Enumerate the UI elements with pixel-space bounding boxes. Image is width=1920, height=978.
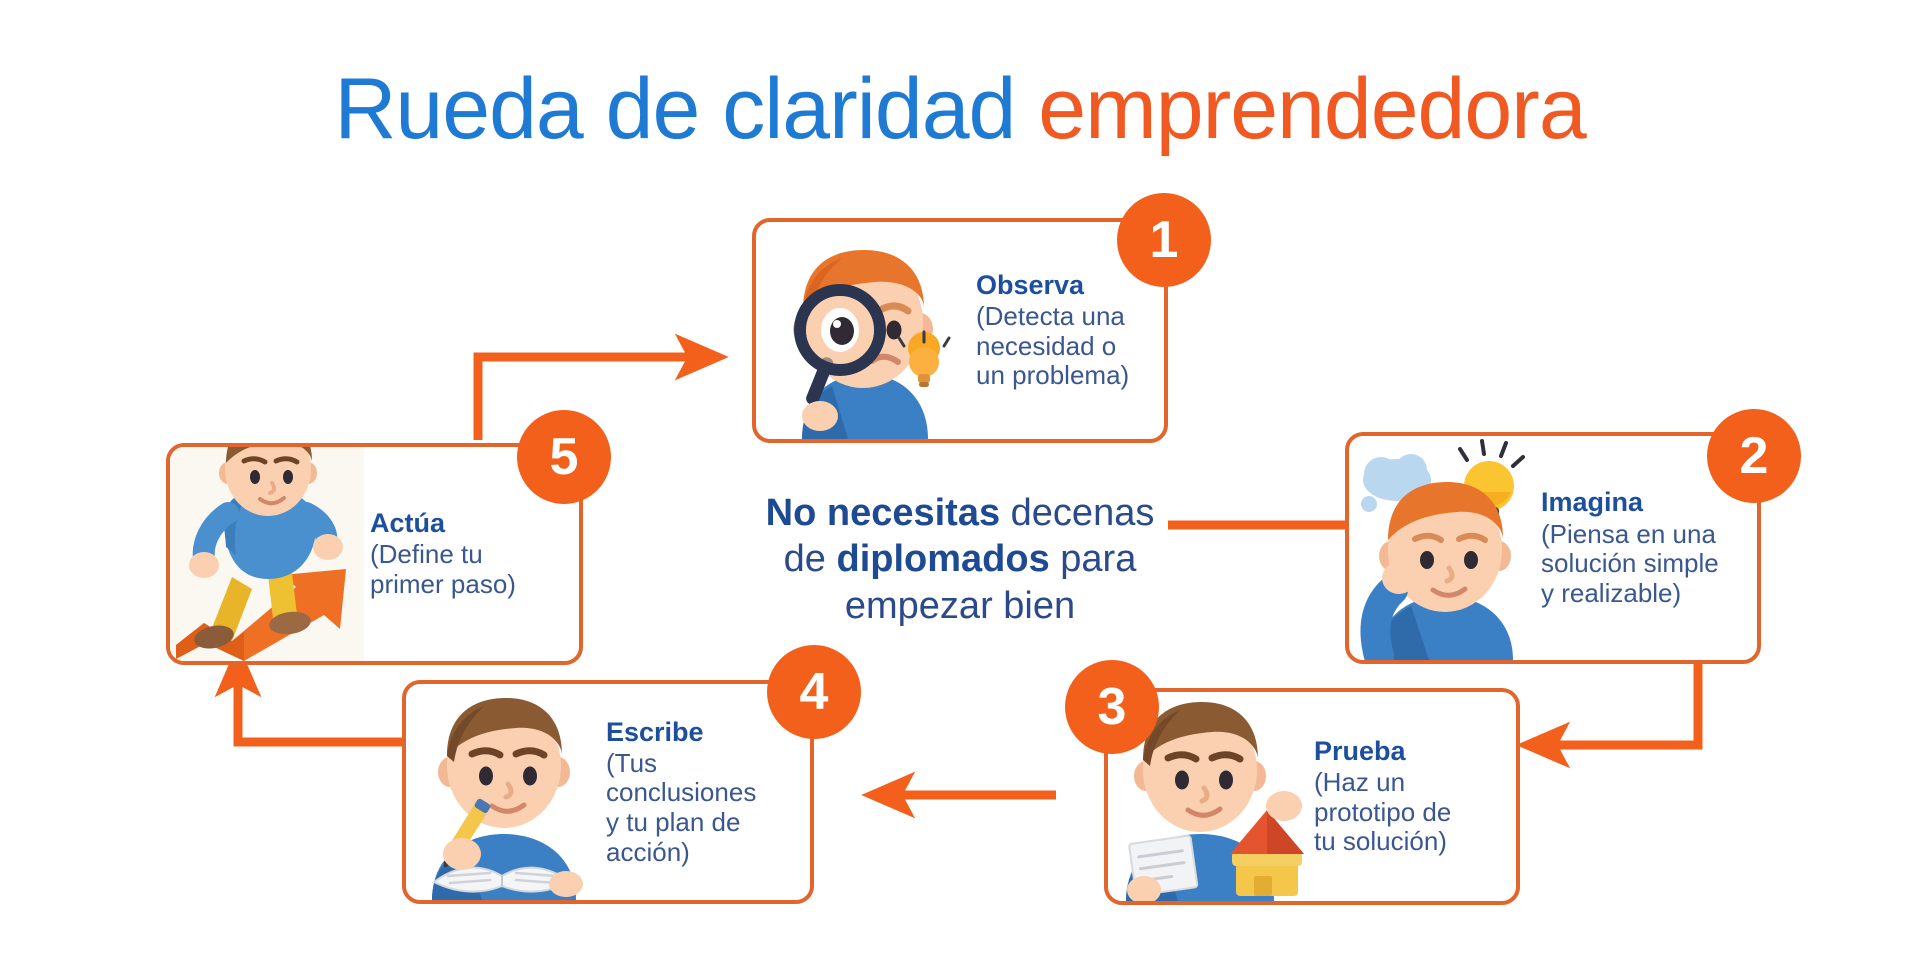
center-message-bold-2: diplomados bbox=[836, 538, 1049, 580]
step-description: (Tus conclusiones y tu plan de acción) bbox=[606, 749, 796, 868]
step-card-actua-text: Actúa (Define tu primer paso) bbox=[364, 508, 579, 599]
person-magnifying-glass-idea-icon bbox=[756, 222, 970, 439]
step-badge-5-number: 5 bbox=[550, 431, 579, 483]
infographic-canvas: Rueda de claridad emprendedora bbox=[0, 0, 1920, 978]
step-description: (Piensa en una solución simple y realiza… bbox=[1541, 520, 1743, 609]
step-badge-2-number: 2 bbox=[1740, 430, 1769, 482]
step-badge-5: 5 bbox=[517, 410, 611, 504]
step-badge-1: 1 bbox=[1117, 193, 1211, 287]
center-message-rest-1: decenas bbox=[1000, 492, 1154, 534]
step-title: Escribe bbox=[606, 717, 796, 747]
step-description: (Define tu primer paso) bbox=[370, 540, 565, 599]
step-badge-4-number: 4 bbox=[800, 666, 829, 718]
person-walking-up-arrow-icon bbox=[170, 447, 364, 661]
center-message: No necesitas decenas de diplomados para … bbox=[700, 490, 1220, 629]
step-badge-1-number: 1 bbox=[1150, 214, 1179, 266]
step-title: Imagina bbox=[1541, 487, 1743, 517]
person-writing-notebook-icon bbox=[406, 684, 600, 900]
step-card-imagina-text: Imagina (Piensa en una solución simple y… bbox=[1535, 487, 1757, 608]
step-card-prueba[interactable]: Prueba (Haz un prototipo de tu solución) bbox=[1104, 688, 1520, 905]
step-badge-3: 3 bbox=[1065, 660, 1159, 754]
step-card-observa[interactable]: Observa (Detecta una necesidad o un prob… bbox=[752, 218, 1168, 443]
step-badge-2: 2 bbox=[1707, 409, 1801, 503]
step-description: (Detecta una necesidad o un problema) bbox=[976, 302, 1150, 391]
step-badge-3-number: 3 bbox=[1098, 681, 1127, 733]
step-badge-4: 4 bbox=[767, 645, 861, 739]
step-title: Actúa bbox=[370, 508, 565, 538]
center-message-pre-2: de bbox=[784, 538, 837, 580]
center-message-bold-1: No necesitas bbox=[766, 492, 1000, 534]
person-thinking-lightbulb-icon bbox=[1349, 436, 1535, 660]
page-title: Rueda de claridad emprendedora bbox=[0, 64, 1920, 154]
center-message-line-1: No necesitas decenas bbox=[700, 490, 1220, 536]
step-card-imagina[interactable]: Imagina (Piensa en una solución simple y… bbox=[1345, 432, 1761, 664]
center-message-line-2: de diplomados para bbox=[700, 536, 1220, 582]
step-description: (Haz un prototipo de tu solución) bbox=[1314, 768, 1502, 857]
step-card-escribe-text: Escribe (Tus conclusiones y tu plan de a… bbox=[600, 717, 810, 868]
step-card-escribe[interactable]: Escribe (Tus conclusiones y tu plan de a… bbox=[402, 680, 814, 904]
arrow-2-to-3 bbox=[1545, 664, 1698, 745]
center-message-rest-2: para bbox=[1050, 538, 1137, 580]
step-card-prueba-text: Prueba (Haz un prototipo de tu solución) bbox=[1308, 736, 1516, 857]
page-title-accent: emprendedora bbox=[1038, 61, 1585, 157]
step-title: Prueba bbox=[1314, 736, 1502, 766]
step-card-observa-text: Observa (Detecta una necesidad o un prob… bbox=[970, 270, 1164, 391]
step-title: Observa bbox=[976, 270, 1150, 300]
page-title-primary: Rueda de claridad bbox=[334, 61, 1038, 157]
center-message-line-3: empezar bien bbox=[700, 583, 1220, 629]
